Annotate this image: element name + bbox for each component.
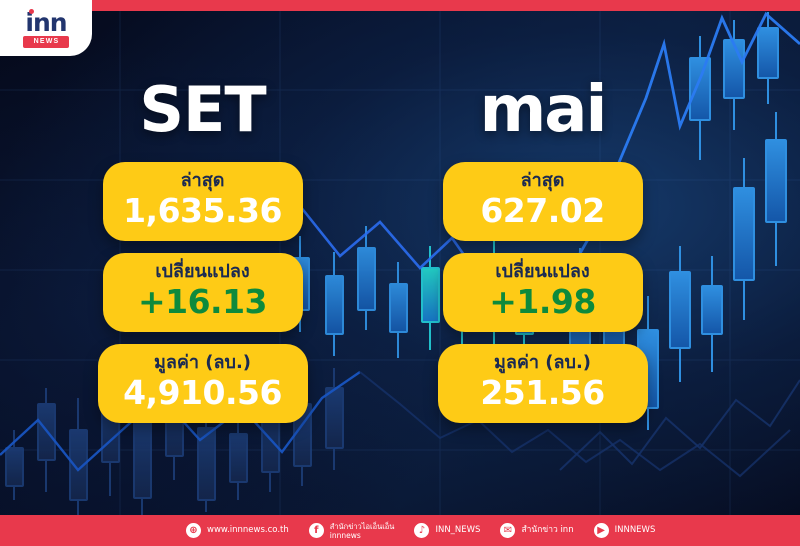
index-panel-set: SET ล่าสุด 1,635.36 เปลี่ยนแปลง +16.13 ม… [60, 78, 345, 423]
index-cards-mai: ล่าสุด 627.02 เปลี่ยนแปลง +1.98 มูลค่า (… [400, 162, 685, 423]
facebook-icon: f [309, 523, 324, 538]
footer-item-tiktok[interactable]: ♪ INN_NEWS [414, 523, 480, 538]
stat-card-value-set: มูลค่า (ลบ.) 4,910.56 [98, 344, 308, 423]
stat-value: 4,910.56 [108, 374, 298, 412]
footer-item-facebook[interactable]: f สำนักข่าวไอเอ็นเอ็น innnews [309, 522, 395, 540]
top-accent-bar [0, 0, 800, 11]
stat-label: ล่าสุด [453, 170, 633, 192]
tiktok-icon: ♪ [414, 523, 429, 538]
footer-item-website[interactable]: ⊕ www.innnews.co.th [186, 523, 289, 538]
twitter-icon: ✉ [500, 523, 515, 538]
stat-label: เปลี่ยนแปลง [453, 261, 633, 283]
index-cards-set: ล่าสุด 1,635.36 เปลี่ยนแปลง +16.13 มูลค่… [60, 162, 345, 423]
footer-label: INNNEWS [615, 526, 656, 536]
stat-card-value-mai: มูลค่า (ลบ.) 251.56 [438, 344, 648, 423]
stat-card-last-mai: ล่าสุด 627.02 [443, 162, 643, 241]
stat-label: มูลค่า (ลบ.) [448, 352, 638, 374]
stat-label: เปลี่ยนแปลง [113, 261, 293, 283]
footer-item-youtube[interactable]: ▶ INNNEWS [594, 523, 656, 538]
stat-label: มูลค่า (ลบ.) [108, 352, 298, 374]
stat-value: 1,635.36 [113, 192, 293, 230]
footer-label: www.innnews.co.th [207, 526, 289, 536]
stat-card-change-mai: เปลี่ยนแปลง +1.98 [443, 253, 643, 332]
logo-news-badge: NEWS [23, 36, 70, 48]
stat-value: +16.13 [113, 283, 293, 321]
footer-label: สำนักข่าวไอเอ็นเอ็น innnews [330, 522, 395, 540]
inn-news-logo: inn NEWS [0, 0, 92, 56]
footer-label: สำนักข่าว inn [521, 526, 573, 536]
footer-label: INN_NEWS [435, 526, 480, 536]
logo-wordmark: inn [18, 12, 74, 34]
social-footer-bar: ⊕ www.innnews.co.th f สำนักข่าวไอเอ็นเอ็… [0, 515, 800, 546]
poster-canvas: inn NEWS SET ล่าสุด 1,635.36 เปลี่ยนแปลง… [0, 0, 800, 546]
index-title-mai: mai [400, 78, 685, 150]
stat-label: ล่าสุด [113, 170, 293, 192]
footer-label-line2: innnews [330, 531, 395, 540]
stat-card-last-set: ล่าสุด 1,635.36 [103, 162, 303, 241]
index-panel-mai: mai ล่าสุด 627.02 เปลี่ยนแปลง +1.98 มูลค… [400, 78, 685, 423]
youtube-icon: ▶ [594, 523, 609, 538]
stat-value: 251.56 [448, 374, 638, 412]
index-title-set: SET [60, 78, 345, 150]
footer-item-twitter[interactable]: ✉ สำนักข่าว inn [500, 523, 573, 538]
footer-label-line1: สำนักข่าวไอเอ็นเอ็น [330, 522, 395, 531]
globe-icon: ⊕ [186, 523, 201, 538]
logo-dot-icon [29, 9, 34, 14]
stat-value: +1.98 [453, 283, 633, 321]
stat-value: 627.02 [453, 192, 633, 230]
stat-card-change-set: เปลี่ยนแปลง +16.13 [103, 253, 303, 332]
logo-mark: inn [18, 12, 74, 34]
